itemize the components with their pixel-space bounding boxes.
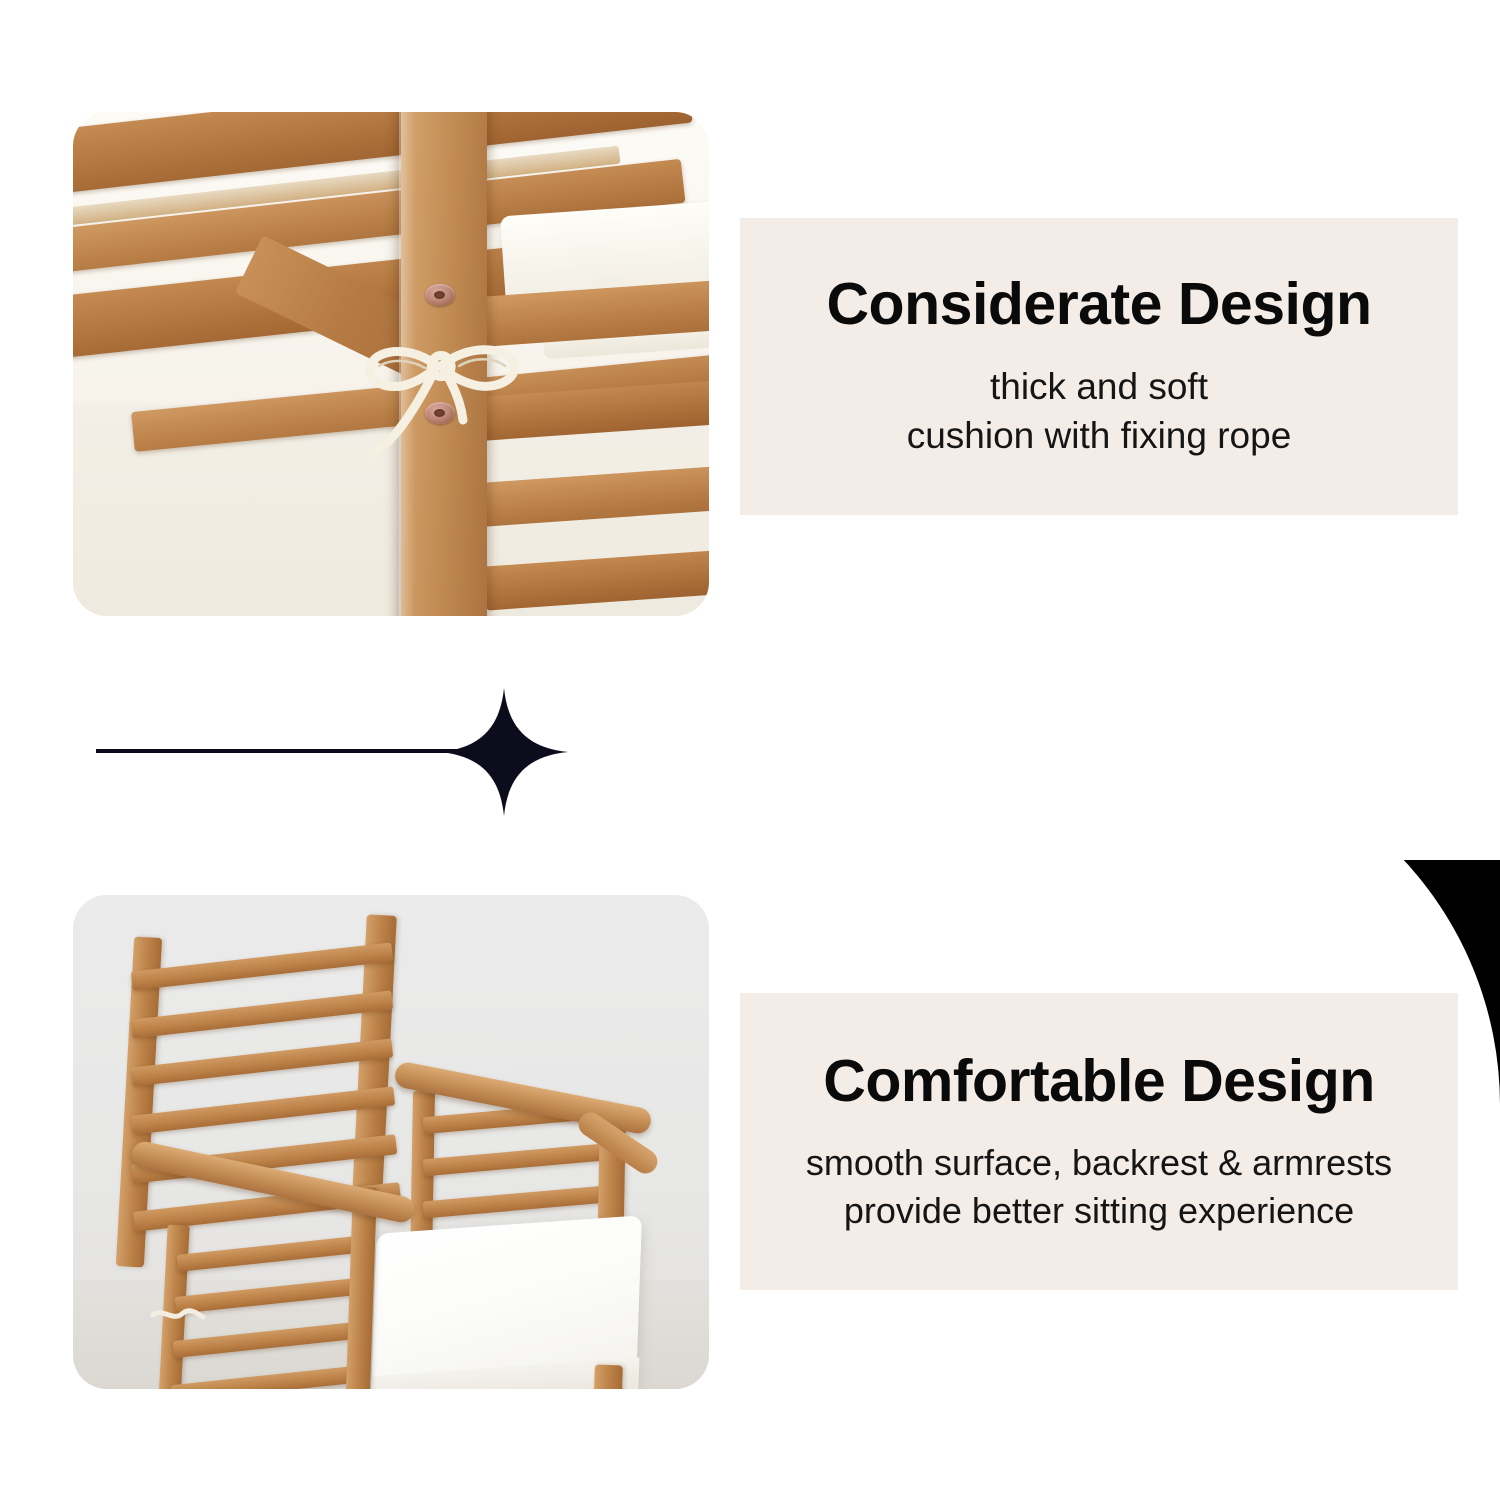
chair-back-slat (131, 942, 393, 990)
headline-comfortable-design: Comfortable Design (823, 1049, 1375, 1114)
text-card-considerate-design: Considerate Design thick and soft cushio… (740, 218, 1458, 515)
chair-back-slat (131, 1038, 393, 1086)
text-card-comfortable-design: Comfortable Design smooth surface, backr… (740, 993, 1458, 1290)
product-photo-considerate-design (73, 112, 709, 616)
chair-side-slat (177, 1235, 368, 1272)
chair-side-slat (423, 1184, 620, 1218)
body-line-2-comfortable-design: provide better sitting experience (844, 1187, 1354, 1235)
headline-considerate-design: Considerate Design (826, 272, 1371, 337)
fixing-rope-small (147, 1303, 207, 1327)
product-photo-comfortable-design (73, 895, 709, 1389)
screw-icon (425, 284, 455, 306)
four-pointed-sparkle-icon (440, 688, 568, 816)
body-line-1-comfortable-design: smooth surface, backrest & armrests (806, 1139, 1392, 1187)
infographic-stage: Considerate Design thick and soft cushio… (0, 0, 1500, 1500)
body-line-2-considerate-design: cushion with fixing rope (907, 412, 1292, 461)
body-line-1-considerate-design: thick and soft (990, 363, 1208, 412)
chair-back-slat (131, 990, 393, 1038)
fixing-rope-bow (309, 308, 539, 478)
chair-side-slat (423, 1143, 616, 1177)
chair-leg (591, 1365, 623, 1389)
